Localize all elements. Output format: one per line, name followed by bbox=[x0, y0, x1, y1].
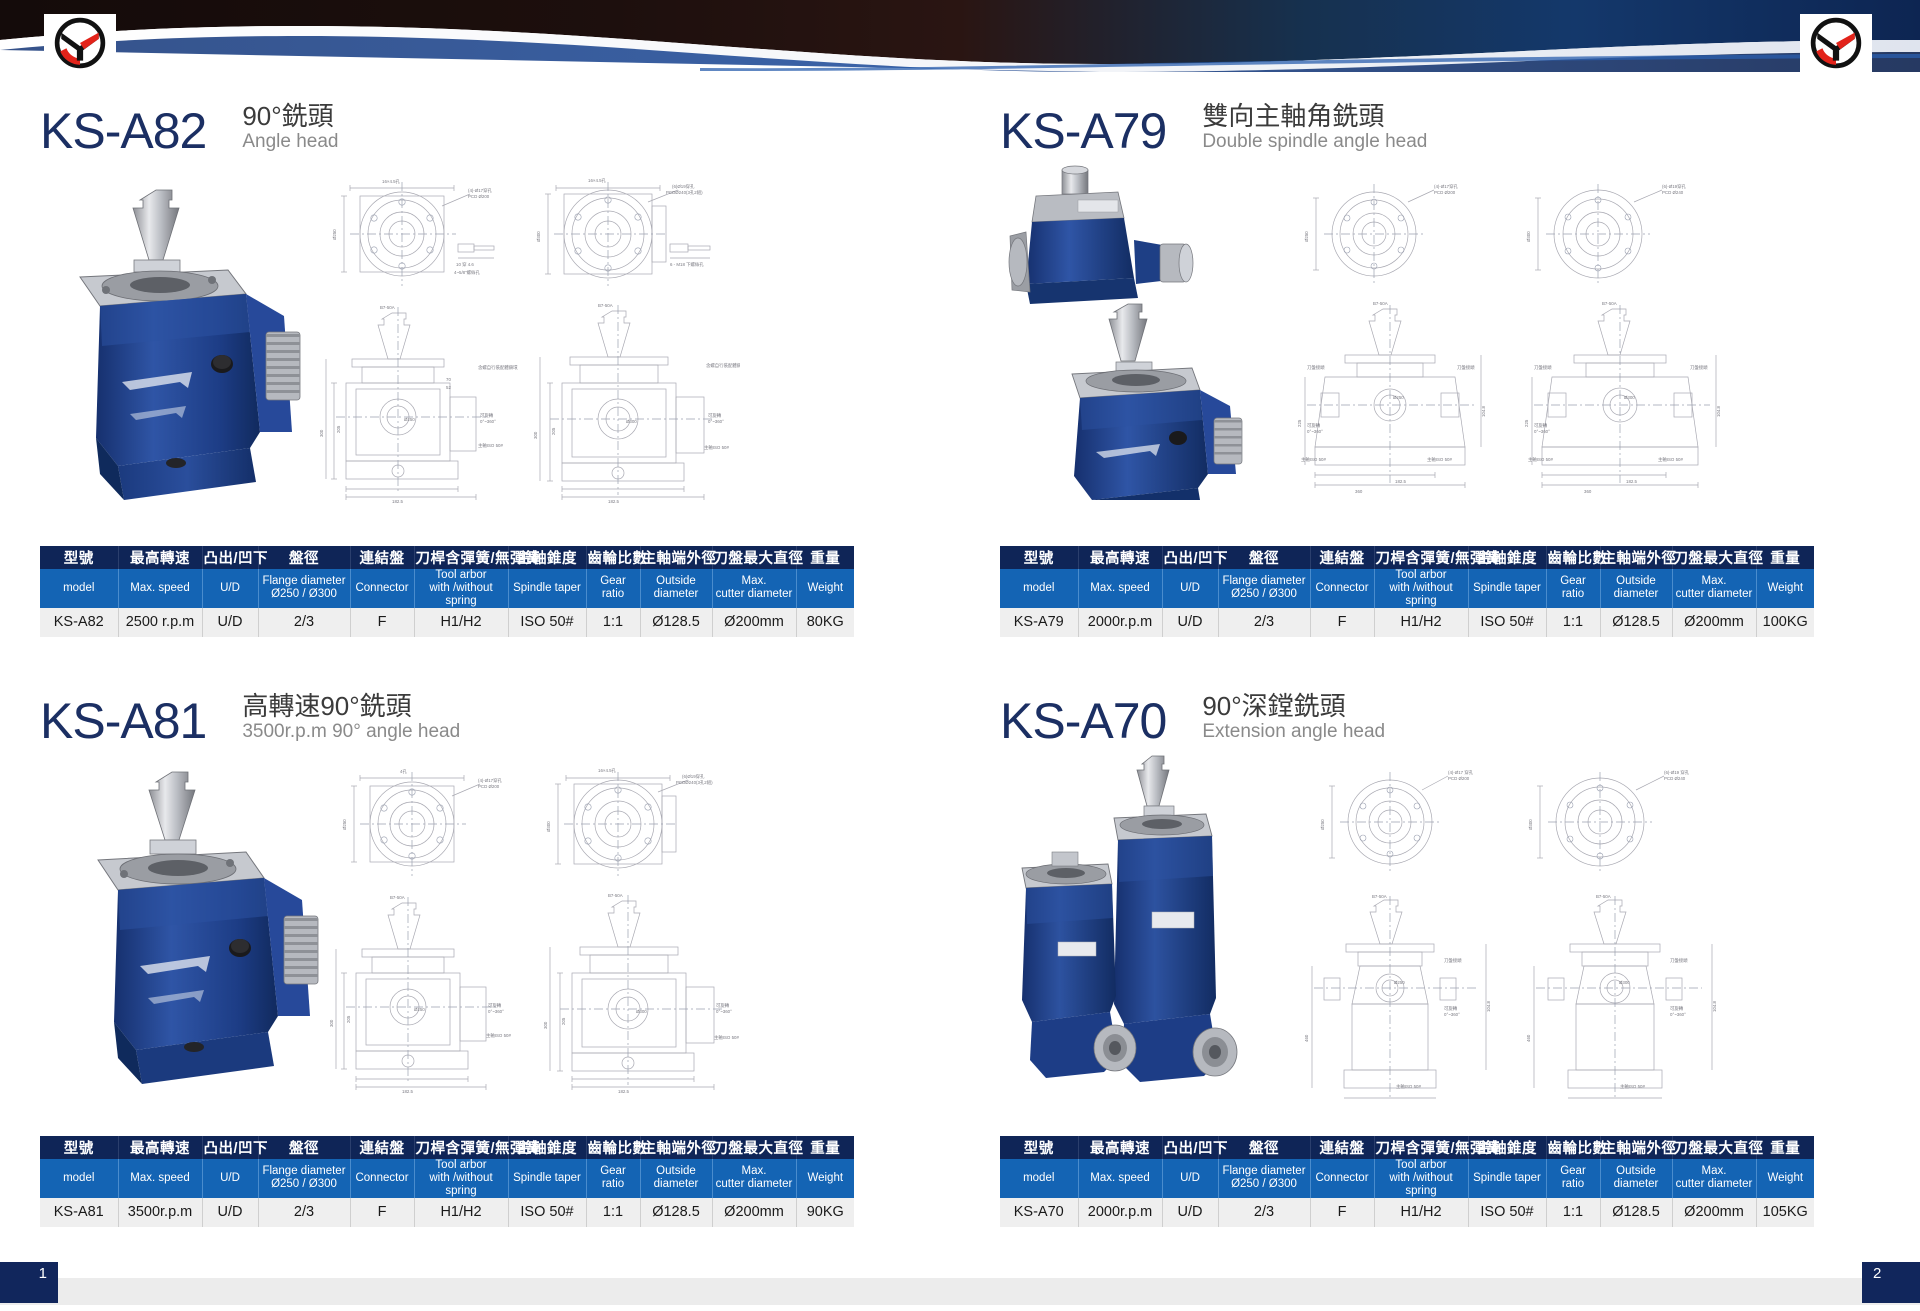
spec-value-ud: U/D bbox=[1162, 608, 1218, 637]
spec-header-zh-connector: 連結盤 bbox=[1310, 546, 1374, 569]
product-title-zh: 高轉速90°銑頭 bbox=[242, 692, 460, 721]
spec-header-zh-model: 型號 bbox=[1000, 546, 1078, 569]
spec-value-weight: 80KG bbox=[796, 608, 854, 637]
svg-text:可旋轉: 可旋轉 bbox=[1670, 1005, 1684, 1012]
svg-text:B7-50A: B7-50A bbox=[598, 303, 613, 308]
svg-text:(6)-Ø19穿孔: (6)-Ø19穿孔 bbox=[1662, 183, 1687, 190]
svg-text:刀盤接頭: 刀盤接頭 bbox=[1690, 364, 1708, 371]
svg-text:300: 300 bbox=[329, 1019, 334, 1027]
spec-value-cutter: Ø200mm bbox=[1672, 608, 1756, 637]
spec-header-zh-taper: 主軸錐度 bbox=[508, 1136, 586, 1159]
drawing-section-a-ks-a79: B7-50A Ø250 360 182.5 225 104.8 刀盤接頭 可旋轉… bbox=[1295, 297, 1505, 497]
drawing-front-view-ks-a70: (4)-Ø17 穿孔 PCD Ø200 Ø250 bbox=[1310, 756, 1500, 886]
svg-text:300: 300 bbox=[543, 1021, 548, 1029]
drawing-side-view-ks-a82: 16×4.5孔 (6)Ø19穿孔 PCDØ240(3孔2組) Ø300 6 - … bbox=[530, 172, 720, 292]
svg-text:主軸ISO 50#: 主軸ISO 50# bbox=[704, 444, 729, 451]
footer-bar bbox=[0, 1278, 1920, 1305]
spec-table-ks-a70: 型號 最高轉速 凸出/凹下 盤徑 連結盤 刀桿含彈簧/無彈簧 主軸錐度 齒輪比數… bbox=[1000, 1136, 1814, 1227]
spec-header-zh-arbor: 刀桿含彈簧/無彈簧 bbox=[414, 1136, 508, 1159]
drawing-section-b-ks-a70: B7-50A Ø300 460 104.8 刀盤接頭 可旋轉 0°~360° 主… bbox=[1520, 892, 1735, 1107]
company-logo-left bbox=[44, 14, 116, 72]
spec-value-taper: ISO 50# bbox=[1468, 608, 1546, 637]
spec-value-speed: 2500 r.p.m bbox=[118, 608, 202, 637]
product-title-zh: 90°深鏜銑頭 bbox=[1202, 692, 1385, 721]
svg-text:205: 205 bbox=[336, 425, 341, 433]
svg-text:Ø300: Ø300 bbox=[1526, 231, 1531, 242]
spec-value-speed: 2000r.p.m bbox=[1078, 608, 1162, 637]
svg-text:0°~360°: 0°~360° bbox=[708, 419, 724, 424]
spec-header-zh-outside: 主軸端外徑 bbox=[640, 1136, 712, 1159]
svg-text:0°~360°: 0°~360° bbox=[1307, 429, 1323, 434]
spec-value-taper: ISO 50# bbox=[508, 608, 586, 637]
spec-header-zh-weight: 重量 bbox=[1756, 546, 1814, 569]
drawing-side-view-ks-a81: 16×4.5孔 (6)Ø19穿孔 PCDØ240(3孔2組) Ø300 bbox=[540, 762, 730, 882]
product-title-ks-a81: KS-A81 高轉速90°銑頭 3500r.p.m 90° angle head bbox=[40, 672, 940, 746]
spec-header-zh-arbor: 刀桿含彈簧/無彈簧 bbox=[1374, 1136, 1468, 1159]
svg-text:主軸ISO 50#: 主軸ISO 50# bbox=[1528, 456, 1553, 463]
svg-text:104.8: 104.8 bbox=[1486, 1000, 1491, 1012]
svg-text:205: 205 bbox=[561, 1017, 566, 1025]
spec-header-zh-cutter: 刀盤最大直徑 bbox=[1672, 1136, 1756, 1159]
spec-value-row: KS-A81 3500r.p.m U/D 2/3 F H1/H2 ISO 50#… bbox=[40, 1198, 854, 1227]
svg-text:B7-50A: B7-50A bbox=[380, 305, 395, 310]
spec-header-en-arbor: Tool arborwith /without spring bbox=[1374, 1159, 1468, 1198]
spec-header-en-weight: Weight bbox=[796, 1159, 854, 1198]
spec-value-taper: ISO 50# bbox=[1468, 1198, 1546, 1227]
svg-text:Ø300: Ø300 bbox=[1619, 980, 1630, 985]
svg-text:Ø300: Ø300 bbox=[546, 821, 551, 832]
spec-header-en-speed: Max. speed bbox=[118, 1159, 202, 1198]
spec-table-wrap-ks-a79: 型號 最高轉速 凸出/凹下 盤徑 連結盤 刀桿含彈簧/無彈簧 主軸錐度 齒輪比數… bbox=[1000, 546, 1900, 637]
svg-text:Ø250: Ø250 bbox=[1394, 980, 1405, 985]
spec-header-en-speed: Max. speed bbox=[1078, 1159, 1162, 1198]
spec-header-en-ud: U/D bbox=[1162, 1159, 1218, 1198]
spec-value-connector: F bbox=[350, 1198, 414, 1227]
svg-text:360: 360 bbox=[1584, 489, 1592, 494]
svg-text:Ø250: Ø250 bbox=[1320, 819, 1325, 830]
spec-header-zh-outside: 主軸端外徑 bbox=[1600, 1136, 1672, 1159]
product-section-ks-a81: KS-A81 高轉速90°銑頭 3500r.p.m 90° angle head bbox=[40, 672, 940, 1227]
svg-text:10 穿 4.6: 10 穿 4.6 bbox=[456, 261, 474, 268]
spec-header-en-speed: Max. speed bbox=[1078, 569, 1162, 608]
svg-text:0°~360°: 0°~360° bbox=[1670, 1012, 1686, 1017]
svg-text:主軸ISO 50#: 主軸ISO 50# bbox=[1658, 456, 1683, 463]
svg-text:PCD Ø200: PCD Ø200 bbox=[1434, 190, 1456, 195]
spec-header-en-taper: Spindle taper bbox=[508, 569, 586, 608]
spec-header-en-flange: Flange diameterØ250 / Ø300 bbox=[1218, 569, 1310, 608]
drawing-front-view-ks-a81: 4孔 (4)-Ø17穿孔 PCD Ø200 Ø250 bbox=[340, 762, 520, 882]
spec-value-ud: U/D bbox=[1162, 1198, 1218, 1227]
svg-text:PCD Ø200: PCD Ø200 bbox=[478, 784, 500, 789]
drawing-front-view-ks-a82: 16×4.5孔 (4)-Ø17穿孔 PCD Ø200 Ø250 10 穿 4.6… bbox=[330, 172, 510, 292]
svg-text:4孔: 4孔 bbox=[400, 768, 407, 775]
svg-text:182.5: 182.5 bbox=[1626, 479, 1638, 484]
drawing-section-a-ks-a82: B7-50A Ø250 52 70 182.5 345.5 300 205 含螺… bbox=[318, 297, 518, 507]
page-number-right: 2 bbox=[1862, 1262, 1920, 1303]
spec-header-en-outside: Outsidediameter bbox=[1600, 569, 1672, 608]
spec-value-connector: F bbox=[350, 608, 414, 637]
spec-table-ks-a79: 型號 最高轉速 凸出/凹下 盤徑 連結盤 刀桿含彈簧/無彈簧 主軸錐度 齒輪比數… bbox=[1000, 546, 1814, 637]
spec-header-en-ud: U/D bbox=[202, 569, 258, 608]
svg-text:可旋轉: 可旋轉 bbox=[488, 1002, 502, 1009]
spec-header-en-gear: Gearratio bbox=[586, 1159, 640, 1198]
svg-text:主軸ISO 50#: 主軸ISO 50# bbox=[1427, 456, 1452, 463]
spec-header-zh-model: 型號 bbox=[40, 1136, 118, 1159]
drawing-section-b-ks-a82: B7-50A Ø300 182.5 345.5 300 205 含螺自行裝配體鎖… bbox=[530, 297, 740, 507]
spec-value-arbor: H1/H2 bbox=[414, 608, 508, 637]
svg-text:PCD Ø240: PCD Ø240 bbox=[1662, 190, 1684, 195]
svg-text:可旋轉: 可旋轉 bbox=[716, 1002, 730, 1009]
svg-text:0°~360°: 0°~360° bbox=[1444, 1012, 1460, 1017]
spec-header-zh-outside: 主軸端外徑 bbox=[1600, 546, 1672, 569]
svg-text:460: 460 bbox=[1526, 1034, 1531, 1042]
product-title-en: 3500r.p.m 90° angle head bbox=[242, 721, 460, 743]
spec-header-zh-ud: 凸出/凹下 bbox=[1162, 546, 1218, 569]
product-photo-ks-a70 bbox=[1000, 752, 1280, 1097]
spec-header-en-gear: Gearratio bbox=[1546, 1159, 1600, 1198]
svg-text:可旋轉: 可旋轉 bbox=[708, 412, 722, 419]
svg-text:0°~360°: 0°~360° bbox=[716, 1009, 732, 1014]
spec-header-en-flange: Flange diameterØ250 / Ø300 bbox=[1218, 1159, 1310, 1198]
spec-header-en-model: model bbox=[40, 569, 118, 608]
spec-header-en-weight: Weight bbox=[796, 569, 854, 608]
svg-text:104.8: 104.8 bbox=[1716, 405, 1721, 417]
spec-value-speed: 3500r.p.m bbox=[118, 1198, 202, 1227]
spec-header-zh-flange: 盤徑 bbox=[258, 1136, 350, 1159]
spec-header-zh-weight: 重量 bbox=[1756, 1136, 1814, 1159]
spec-value-outside: Ø128.5 bbox=[640, 608, 712, 637]
spec-table-ks-a81: 型號 最高轉速 凸出/凹下 盤徑 連結盤 刀桿含彈簧/無彈簧 主軸錐度 齒輪比數… bbox=[40, 1136, 854, 1227]
spec-header-zh-connector: 連結盤 bbox=[350, 1136, 414, 1159]
drawing-front-view-ks-a79: (4)-Ø17穿孔 PCD Ø200 Ø250 bbox=[1300, 172, 1480, 292]
spec-header-en-taper: Spindle taper bbox=[508, 1159, 586, 1198]
svg-text:52: 52 bbox=[446, 385, 451, 390]
spec-value-arbor: H1/H2 bbox=[1374, 1198, 1468, 1227]
spec-header-en-row: model Max. speed U/D Flange diameterØ250… bbox=[40, 569, 854, 608]
page-number-left: 1 bbox=[0, 1262, 58, 1303]
banner-graphic bbox=[0, 0, 1920, 72]
product-section-ks-a70: KS-A70 90°深鏜銑頭 Extension angle head bbox=[1000, 672, 1900, 1227]
spec-header-zh-row: 型號 最高轉速 凸出/凹下 盤徑 連結盤 刀桿含彈簧/無彈簧 主軸錐度 齒輪比數… bbox=[1000, 1136, 1814, 1159]
svg-text:可旋轉: 可旋轉 bbox=[1307, 422, 1321, 429]
spec-header-en-gear: Gearratio bbox=[1546, 569, 1600, 608]
product-model-code: KS-A82 bbox=[40, 106, 206, 156]
drawing-section-a-ks-a70: B7-50A Ø250 460 104.8 刀盤接頭 可旋轉 0°~360° 主… bbox=[1300, 892, 1510, 1107]
svg-text:PCD Ø200: PCD Ø200 bbox=[468, 194, 490, 199]
svg-text:PCD Ø240: PCD Ø240 bbox=[1664, 776, 1686, 781]
spec-value-model: KS-A70 bbox=[1000, 1198, 1078, 1227]
spec-header-zh-weight: 重量 bbox=[796, 546, 854, 569]
svg-text:刀盤接頭: 刀盤接頭 bbox=[1457, 364, 1475, 371]
spec-header-en-outside: Outsidediameter bbox=[640, 569, 712, 608]
company-logo-right bbox=[1800, 14, 1872, 72]
spec-header-zh-speed: 最高轉速 bbox=[118, 1136, 202, 1159]
svg-text:PCDØ240(3孔2組): PCDØ240(3孔2組) bbox=[676, 779, 713, 786]
spec-header-en-model: model bbox=[1000, 569, 1078, 608]
spec-header-zh-taper: 主軸錐度 bbox=[1468, 1136, 1546, 1159]
spec-header-en-cutter: Max.cutter diameter bbox=[1672, 569, 1756, 608]
product-title-en: Angle head bbox=[242, 131, 338, 153]
spec-table-wrap-ks-a70: 型號 最高轉速 凸出/凹下 盤徑 連結盤 刀桿含彈簧/無彈簧 主軸錐度 齒輪比數… bbox=[1000, 1136, 1900, 1227]
svg-text:主軸ISO 50#: 主軸ISO 50# bbox=[1396, 1083, 1421, 1090]
svg-text:(6)-Ø19 穿孔: (6)-Ø19 穿孔 bbox=[1664, 769, 1690, 776]
svg-text:Ø300: Ø300 bbox=[1624, 395, 1635, 400]
product-title-zh: 雙向主軸角銑頭 bbox=[1202, 102, 1427, 131]
product-model-code: KS-A70 bbox=[1000, 696, 1166, 746]
svg-text:刀盤接頭: 刀盤接頭 bbox=[1444, 957, 1462, 964]
svg-text:含螺自行裝配體鎖環上: 含螺自行裝配體鎖環上 bbox=[478, 364, 518, 371]
svg-text:刀盤接頭: 刀盤接頭 bbox=[1307, 364, 1325, 371]
svg-text:104.8: 104.8 bbox=[1712, 1000, 1717, 1012]
spec-header-zh-connector: 連結盤 bbox=[1310, 1136, 1374, 1159]
spec-header-en-cutter: Max.cutter diameter bbox=[712, 569, 796, 608]
spec-header-en-taper: Spindle taper bbox=[1468, 569, 1546, 608]
spec-header-zh-arbor: 刀桿含彈簧/無彈簧 bbox=[414, 546, 508, 569]
spec-header-zh-gear: 齒輪比數 bbox=[1546, 1136, 1600, 1159]
spec-header-en-ud: U/D bbox=[202, 1159, 258, 1198]
svg-text:0°~360°: 0°~360° bbox=[1534, 429, 1550, 434]
svg-text:16×4.5孔: 16×4.5孔 bbox=[598, 767, 617, 774]
spec-value-gear: 1:1 bbox=[586, 1198, 640, 1227]
svg-text:182.5: 182.5 bbox=[608, 499, 620, 504]
spec-header-en-gear: Gearratio bbox=[586, 569, 640, 608]
spec-header-zh-connector: 連結盤 bbox=[350, 546, 414, 569]
spec-header-en-connector: Connector bbox=[1310, 569, 1374, 608]
svg-text:(4)-Ø17穿孔: (4)-Ø17穿孔 bbox=[1434, 183, 1459, 190]
svg-text:0°~360°: 0°~360° bbox=[488, 1009, 504, 1014]
spec-header-en-taper: Spindle taper bbox=[1468, 1159, 1546, 1198]
company-logo-icon bbox=[1810, 17, 1862, 69]
product-photo-ks-a79 bbox=[1000, 162, 1270, 502]
spec-header-zh-cutter: 刀盤最大直徑 bbox=[712, 1136, 796, 1159]
spec-header-en-model: model bbox=[40, 1159, 118, 1198]
svg-text:(6)Ø19穿孔: (6)Ø19穿孔 bbox=[682, 773, 705, 780]
svg-text:225: 225 bbox=[1524, 419, 1529, 427]
spec-header-zh-ud: 凸出/凹下 bbox=[1162, 1136, 1218, 1159]
spec-table-wrap-ks-a81: 型號 最高轉速 凸出/凹下 盤徑 連結盤 刀桿含彈簧/無彈簧 主軸錐度 齒輪比數… bbox=[40, 1136, 940, 1227]
product-figures-ks-a79: (4)-Ø17穿孔 PCD Ø200 Ø250 bbox=[1000, 162, 1900, 542]
spec-header-zh-outside: 主軸端外徑 bbox=[640, 546, 712, 569]
spec-value-flange: 2/3 bbox=[1218, 608, 1310, 637]
product-section-ks-a82: KS-A82 90°銑頭 Angle head bbox=[40, 82, 940, 637]
spec-value-gear: 1:1 bbox=[1546, 1198, 1600, 1227]
svg-text:刀盤接頭: 刀盤接頭 bbox=[1534, 364, 1552, 371]
product-title-ks-a82: KS-A82 90°銑頭 Angle head bbox=[40, 82, 940, 156]
svg-text:Ø250: Ø250 bbox=[404, 417, 415, 422]
svg-text:205: 205 bbox=[551, 427, 556, 435]
spec-header-zh-cutter: 刀盤最大直徑 bbox=[1672, 546, 1756, 569]
svg-text:182.5: 182.5 bbox=[618, 1089, 630, 1094]
svg-text:Ø300: Ø300 bbox=[626, 419, 637, 424]
product-title-zh: 90°銑頭 bbox=[242, 102, 338, 131]
spec-header-zh-model: 型號 bbox=[40, 546, 118, 569]
page-footer: 1 2 bbox=[0, 1262, 1920, 1311]
spec-header-en-cutter: Max.cutter diameter bbox=[712, 1159, 796, 1198]
spec-value-weight: 90KG bbox=[796, 1198, 854, 1227]
spec-header-zh-gear: 齒輪比數 bbox=[586, 546, 640, 569]
spec-header-zh-row: 型號 最高轉速 凸出/凹下 盤徑 連結盤 刀桿含彈簧/無彈簧 主軸錐度 齒輪比數… bbox=[1000, 546, 1814, 569]
svg-text:182.5: 182.5 bbox=[392, 499, 404, 504]
spec-header-en-arbor: Tool arborwith /without spring bbox=[1374, 569, 1468, 608]
spec-value-cutter: Ø200mm bbox=[712, 608, 796, 637]
spec-header-en-row: model Max. speed U/D Flange diameterØ250… bbox=[1000, 1159, 1814, 1198]
spec-header-en-speed: Max. speed bbox=[118, 569, 202, 608]
spec-header-zh-model: 型號 bbox=[1000, 1136, 1078, 1159]
svg-text:16×4.5孔: 16×4.5孔 bbox=[382, 178, 401, 185]
spec-header-zh-weight: 重量 bbox=[796, 1136, 854, 1159]
spec-header-zh-gear: 齒輪比數 bbox=[586, 1136, 640, 1159]
product-photo-ks-a82 bbox=[60, 182, 310, 512]
spec-header-zh-row: 型號 最高轉速 凸出/凹下 盤徑 連結盤 刀桿含彈簧/無彈簧 主軸錐度 齒輪比數… bbox=[40, 1136, 854, 1159]
spec-header-zh-taper: 主軸錐度 bbox=[508, 546, 586, 569]
drawing-section-b-ks-a81: B7-50A Ø300 182.5 345.5 300 205 可旋轉 0°~3… bbox=[540, 887, 750, 1097]
svg-text:PCD Ø200: PCD Ø200 bbox=[1448, 776, 1470, 781]
spec-header-en-flange: Flange diameterØ250 / Ø300 bbox=[258, 1159, 350, 1198]
drawing-section-a-ks-a81: B7-50A Ø250 182.5 345.5 300 205 可旋轉 0°~3… bbox=[328, 887, 528, 1097]
svg-text:B7-50A: B7-50A bbox=[608, 893, 623, 898]
spec-header-en-connector: Connector bbox=[350, 569, 414, 608]
svg-text:Ø250: Ø250 bbox=[342, 819, 347, 830]
catalog-content: KS-A82 90°銑頭 Angle head bbox=[0, 72, 1920, 1262]
spec-header-en-weight: Weight bbox=[1756, 1159, 1814, 1198]
spec-value-flange: 2/3 bbox=[1218, 1198, 1310, 1227]
spec-value-ud: U/D bbox=[202, 1198, 258, 1227]
product-figures-ks-a70: (4)-Ø17 穿孔 PCD Ø200 Ø250 bbox=[1000, 752, 1900, 1132]
spec-header-en-arbor: Tool arborwith /without spring bbox=[414, 569, 508, 608]
spec-value-connector: F bbox=[1310, 608, 1374, 637]
spec-header-zh-gear: 齒輪比數 bbox=[1546, 546, 1600, 569]
spec-value-ud: U/D bbox=[202, 608, 258, 637]
svg-text:主軸ISO 50#: 主軸ISO 50# bbox=[486, 1032, 511, 1039]
page-header-banner bbox=[0, 0, 1920, 72]
spec-header-zh-ud: 凸出/凹下 bbox=[202, 546, 258, 569]
svg-text:300: 300 bbox=[319, 429, 324, 437]
spec-table-ks-a82: 型號 最高轉速 凸出/凹下 盤徑 連結盤 刀桿含彈簧/無彈簧 主軸錐度 齒輪比數… bbox=[40, 546, 854, 637]
product-photo-ks-a81 bbox=[80, 762, 330, 1102]
svg-text:Ø250: Ø250 bbox=[332, 229, 337, 240]
svg-text:B7-50A: B7-50A bbox=[1596, 894, 1611, 899]
svg-text:0°~360°: 0°~360° bbox=[480, 419, 496, 424]
svg-text:Ø300: Ø300 bbox=[636, 1009, 647, 1014]
product-figures-ks-a81: 4孔 (4)-Ø17穿孔 PCD Ø200 Ø250 bbox=[40, 752, 940, 1132]
spec-table-wrap-ks-a82: 型號 最高轉速 凸出/凹下 盤徑 連結盤 刀桿含彈簧/無彈簧 主軸錐度 齒輪比數… bbox=[40, 546, 940, 637]
product-model-code: KS-A81 bbox=[40, 696, 206, 746]
svg-text:B7-50A: B7-50A bbox=[390, 895, 405, 900]
svg-text:刀盤接頭: 刀盤接頭 bbox=[1670, 957, 1688, 964]
svg-text:460: 460 bbox=[1304, 1034, 1309, 1042]
spec-header-en-model: model bbox=[1000, 1159, 1078, 1198]
spec-value-arbor: H1/H2 bbox=[1374, 608, 1468, 637]
spec-header-en-connector: Connector bbox=[1310, 1159, 1374, 1198]
spec-value-arbor: H1/H2 bbox=[414, 1198, 508, 1227]
spec-header-zh-flange: 盤徑 bbox=[1218, 546, 1310, 569]
spec-value-flange: 2/3 bbox=[258, 608, 350, 637]
spec-header-en-weight: Weight bbox=[1756, 569, 1814, 608]
svg-text:(4)-Ø17穿孔: (4)-Ø17穿孔 bbox=[468, 187, 493, 194]
svg-text:主軸ISO 50#: 主軸ISO 50# bbox=[1301, 456, 1326, 463]
spec-value-outside: Ø128.5 bbox=[1600, 1198, 1672, 1227]
product-section-ks-a79: KS-A79 雙向主軸角銑頭 Double spindle angle head bbox=[1000, 82, 1900, 637]
spec-value-speed: 2000r.p.m bbox=[1078, 1198, 1162, 1227]
spec-header-zh-row: 型號 最高轉速 凸出/凹下 盤徑 連結盤 刀桿含彈簧/無彈簧 主軸錐度 齒輪比數… bbox=[40, 546, 854, 569]
svg-text:(4)-Ø17 穿孔: (4)-Ø17 穿孔 bbox=[1448, 769, 1474, 776]
svg-text:Ø300: Ø300 bbox=[536, 231, 541, 242]
spec-value-gear: 1:1 bbox=[1546, 608, 1600, 637]
spec-value-model: KS-A79 bbox=[1000, 608, 1078, 637]
svg-text:225: 225 bbox=[1297, 419, 1302, 427]
svg-text:16×4.5孔: 16×4.5孔 bbox=[588, 177, 607, 184]
product-title-en: Double spindle angle head bbox=[1202, 131, 1427, 153]
svg-text:含螺自行裝配體鎖環上: 含螺自行裝配體鎖環上 bbox=[706, 362, 740, 369]
svg-text:4~5/8"螺絲孔: 4~5/8"螺絲孔 bbox=[454, 269, 480, 276]
spec-header-en-outside: Outsidediameter bbox=[1600, 1159, 1672, 1198]
svg-text:104.8: 104.8 bbox=[1481, 405, 1486, 417]
spec-header-en-flange: Flange diameterØ250 / Ø300 bbox=[258, 569, 350, 608]
spec-value-weight: 100KG bbox=[1756, 608, 1814, 637]
spec-header-zh-taper: 主軸錐度 bbox=[1468, 546, 1546, 569]
spec-value-taper: ISO 50# bbox=[508, 1198, 586, 1227]
svg-text:Ø300: Ø300 bbox=[1528, 819, 1533, 830]
spec-value-model: KS-A82 bbox=[40, 608, 118, 637]
svg-text:可旋轉: 可旋轉 bbox=[1444, 1005, 1458, 1012]
svg-text:(6)Ø19穿孔: (6)Ø19穿孔 bbox=[672, 183, 695, 190]
spec-value-cutter: Ø200mm bbox=[712, 1198, 796, 1227]
spec-header-zh-speed: 最高轉速 bbox=[118, 546, 202, 569]
svg-text:205: 205 bbox=[346, 1015, 351, 1023]
svg-text:B7-50A: B7-50A bbox=[1372, 894, 1387, 899]
company-logo-icon bbox=[54, 17, 106, 69]
svg-text:Ø250: Ø250 bbox=[1393, 395, 1404, 400]
spec-header-zh-flange: 盤徑 bbox=[258, 546, 350, 569]
drawing-side-view-ks-a70: (6)-Ø19 穿孔 PCD Ø240 Ø300 bbox=[1520, 756, 1715, 886]
spec-header-zh-cutter: 刀盤最大直徑 bbox=[712, 546, 796, 569]
svg-text:6 - M18 下螺絲孔: 6 - M18 下螺絲孔 bbox=[670, 261, 704, 268]
svg-text:(4)-Ø17穿孔: (4)-Ø17穿孔 bbox=[478, 777, 503, 784]
spec-value-weight: 105KG bbox=[1756, 1198, 1814, 1227]
svg-text:可旋轉: 可旋轉 bbox=[1534, 422, 1548, 429]
svg-text:300: 300 bbox=[533, 431, 538, 439]
spec-value-model: KS-A81 bbox=[40, 1198, 118, 1227]
svg-text:可旋轉: 可旋轉 bbox=[480, 412, 494, 419]
svg-text:PCDØ240(3孔2組): PCDØ240(3孔2組) bbox=[666, 189, 703, 196]
svg-text:70: 70 bbox=[446, 377, 451, 382]
spec-value-row: KS-A70 2000r.p.m U/D 2/3 F H1/H2 ISO 50#… bbox=[1000, 1198, 1814, 1227]
spec-header-en-arbor: Tool arborwith /without spring bbox=[414, 1159, 508, 1198]
product-model-code: KS-A79 bbox=[1000, 106, 1166, 156]
spec-value-outside: Ø128.5 bbox=[1600, 608, 1672, 637]
spec-header-en-cutter: Max.cutter diameter bbox=[1672, 1159, 1756, 1198]
product-title-en: Extension angle head bbox=[1202, 721, 1385, 743]
svg-text:Ø250: Ø250 bbox=[414, 1007, 425, 1012]
spec-value-cutter: Ø200mm bbox=[1672, 1198, 1756, 1227]
spec-header-en-row: model Max. speed U/D Flange diameterØ250… bbox=[40, 1159, 854, 1198]
svg-text:Ø250: Ø250 bbox=[1304, 231, 1309, 242]
spec-header-zh-ud: 凸出/凹下 bbox=[202, 1136, 258, 1159]
spec-header-zh-arbor: 刀桿含彈簧/無彈簧 bbox=[1374, 546, 1468, 569]
spec-value-connector: F bbox=[1310, 1198, 1374, 1227]
spec-header-en-row: model Max. speed U/D Flange diameterØ250… bbox=[1000, 569, 1814, 608]
product-figures-ks-a82: 16×4.5孔 (4)-Ø17穿孔 PCD Ø200 Ø250 10 穿 4.6… bbox=[40, 162, 940, 542]
spec-value-outside: Ø128.5 bbox=[640, 1198, 712, 1227]
spec-value-gear: 1:1 bbox=[586, 608, 640, 637]
spec-header-en-ud: U/D bbox=[1162, 569, 1218, 608]
drawing-side-view-ks-a79: (6)-Ø19穿孔 PCD Ø240 Ø300 bbox=[1520, 172, 1710, 292]
product-title-ks-a70: KS-A70 90°深鏜銑頭 Extension angle head bbox=[1000, 672, 1900, 746]
svg-text:182.5: 182.5 bbox=[1395, 479, 1407, 484]
svg-text:B7-50A: B7-50A bbox=[1602, 301, 1617, 306]
svg-text:主軸ISO 50#: 主軸ISO 50# bbox=[1620, 1083, 1645, 1090]
svg-text:360: 360 bbox=[1355, 489, 1363, 494]
